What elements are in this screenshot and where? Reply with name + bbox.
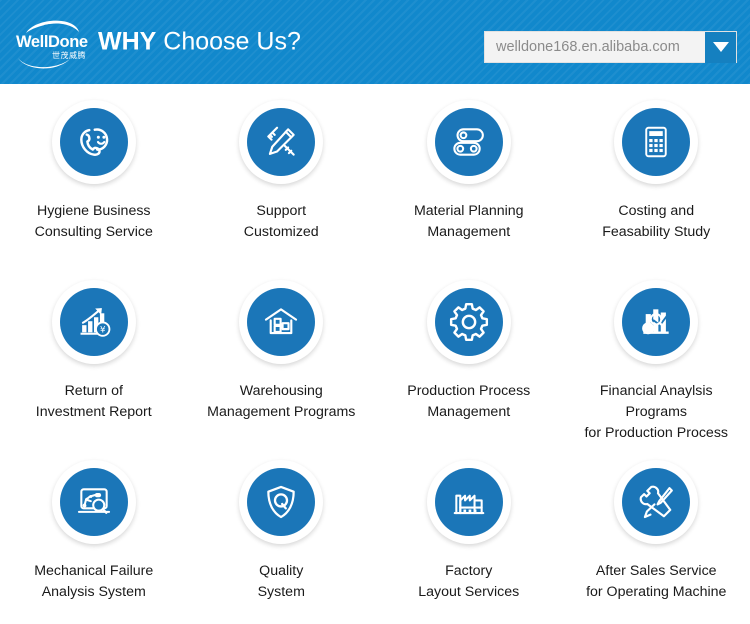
wrench-screwdriver-icon [622, 468, 690, 536]
service-caption-line1: Hygiene Business [35, 201, 153, 222]
service-caption-line1: Material Planning [414, 201, 524, 222]
service-caption-line2: Feasability Study [602, 222, 710, 243]
service-caption: Support Customized [244, 201, 319, 243]
service-card[interactable]: Factory Layout Services [375, 444, 563, 624]
logo-wordmark: WellDone [16, 33, 98, 51]
service-card[interactable]: Hygiene Business Consulting Service [0, 84, 188, 264]
service-caption-line1: After Sales Service [586, 561, 726, 582]
service-card[interactable]: Financial Anaylsis Programs for Producti… [563, 264, 750, 444]
service-card[interactable]: Quality System [188, 444, 376, 624]
service-caption-line2: Management [414, 222, 524, 243]
pencil-ruler-icon [247, 108, 315, 176]
service-caption-line1: Warehousing [207, 381, 355, 402]
service-caption-line2: for Production Process [567, 423, 745, 444]
service-caption-line2: Consulting Service [35, 222, 153, 243]
service-caption-line2: Layout Services [418, 582, 519, 603]
service-caption-line1: Financial Anaylsis Programs [567, 381, 745, 423]
service-caption-line1: Production Process [407, 381, 530, 402]
service-caption: Return of Investment Report [36, 381, 152, 423]
service-caption-line2: Investment Report [36, 402, 152, 423]
service-card[interactable]: Warehousing Management Programs [188, 264, 376, 444]
why-choose-us-page: WellDone 世茂威腾 WHY Choose Us? welldone168… [0, 0, 750, 624]
page-title: WHY Choose Us? [98, 28, 301, 57]
service-card[interactable]: Mechanical Failure Analysis System [0, 444, 188, 624]
brand-logo: WellDone 世茂威腾 [16, 20, 98, 66]
service-icon-badge [427, 460, 511, 544]
service-caption-line2: Customized [244, 222, 319, 243]
svg-text:¥: ¥ [100, 325, 106, 335]
service-card[interactable]: Costing and Feasability Study [563, 84, 750, 264]
service-caption: Production Process Management [407, 381, 530, 423]
page-header: WellDone 世茂威腾 WHY Choose Us? welldone168… [0, 0, 750, 84]
service-caption: Warehousing Management Programs [207, 381, 355, 423]
material-rolls-icon [435, 108, 503, 176]
service-card[interactable]: After Sales Service for Operating Machin… [563, 444, 750, 624]
service-card[interactable]: Production Process Management [375, 264, 563, 444]
service-icon-badge [427, 280, 511, 364]
service-card[interactable]: Material Planning Management [375, 84, 563, 264]
service-icon-badge [614, 100, 698, 184]
service-caption-line1: Costing and [602, 201, 710, 222]
service-caption: Costing and Feasability Study [602, 201, 710, 243]
store-url-dropdown[interactable]: welldone168.en.alibaba.com [484, 31, 737, 63]
monitor-robot-magnifier-icon [60, 468, 128, 536]
service-caption: Mechanical Failure Analysis System [34, 561, 153, 603]
service-caption: Material Planning Management [414, 201, 524, 243]
service-icon-badge [614, 280, 698, 364]
warehouse-icon [247, 288, 315, 356]
service-icon-badge [52, 100, 136, 184]
service-caption-line2: Management Programs [207, 402, 355, 423]
service-icon-badge [239, 460, 323, 544]
page-title-bold: WHY [98, 28, 156, 56]
service-caption: Factory Layout Services [418, 561, 519, 603]
shield-q-icon [247, 468, 315, 536]
service-icon-badge [239, 280, 323, 364]
chevron-down-icon[interactable] [705, 32, 736, 63]
service-caption: Hygiene Business Consulting Service [35, 201, 153, 243]
service-caption: Financial Anaylsis Programs for Producti… [567, 381, 745, 444]
calculator-icon [622, 108, 690, 176]
service-icon-badge [239, 100, 323, 184]
service-card[interactable]: ¥ Return of Investment Report [0, 264, 188, 444]
phone-smile-icon [60, 108, 128, 176]
store-url-value[interactable]: welldone168.en.alibaba.com [485, 39, 705, 55]
chart-magnifier-icon [622, 288, 690, 356]
service-icon-badge [52, 460, 136, 544]
service-caption-line2: Management [407, 402, 530, 423]
page-title-light: Choose Us? [163, 28, 301, 56]
service-caption-line1: Return of [36, 381, 152, 402]
service-caption-line2: System [258, 582, 305, 603]
service-icon-badge [614, 460, 698, 544]
service-icon-badge [427, 100, 511, 184]
service-caption-line2: Analysis System [34, 582, 153, 603]
service-caption-line1: Factory [418, 561, 519, 582]
service-caption: Quality System [258, 561, 305, 603]
factory-icon [435, 468, 503, 536]
logo-underline [18, 56, 70, 67]
gear-icon [435, 288, 503, 356]
service-caption: After Sales Service for Operating Machin… [586, 561, 726, 603]
growth-chart-yen-icon: ¥ [60, 288, 128, 356]
service-caption-line2: for Operating Machine [586, 582, 726, 603]
service-caption-line1: Mechanical Failure [34, 561, 153, 582]
service-caption-line1: Support [244, 201, 319, 222]
service-card[interactable]: Support Customized [188, 84, 376, 264]
services-grid: Hygiene Business Consulting Service [0, 84, 750, 624]
service-caption-line1: Quality [258, 561, 305, 582]
service-icon-badge: ¥ [52, 280, 136, 364]
